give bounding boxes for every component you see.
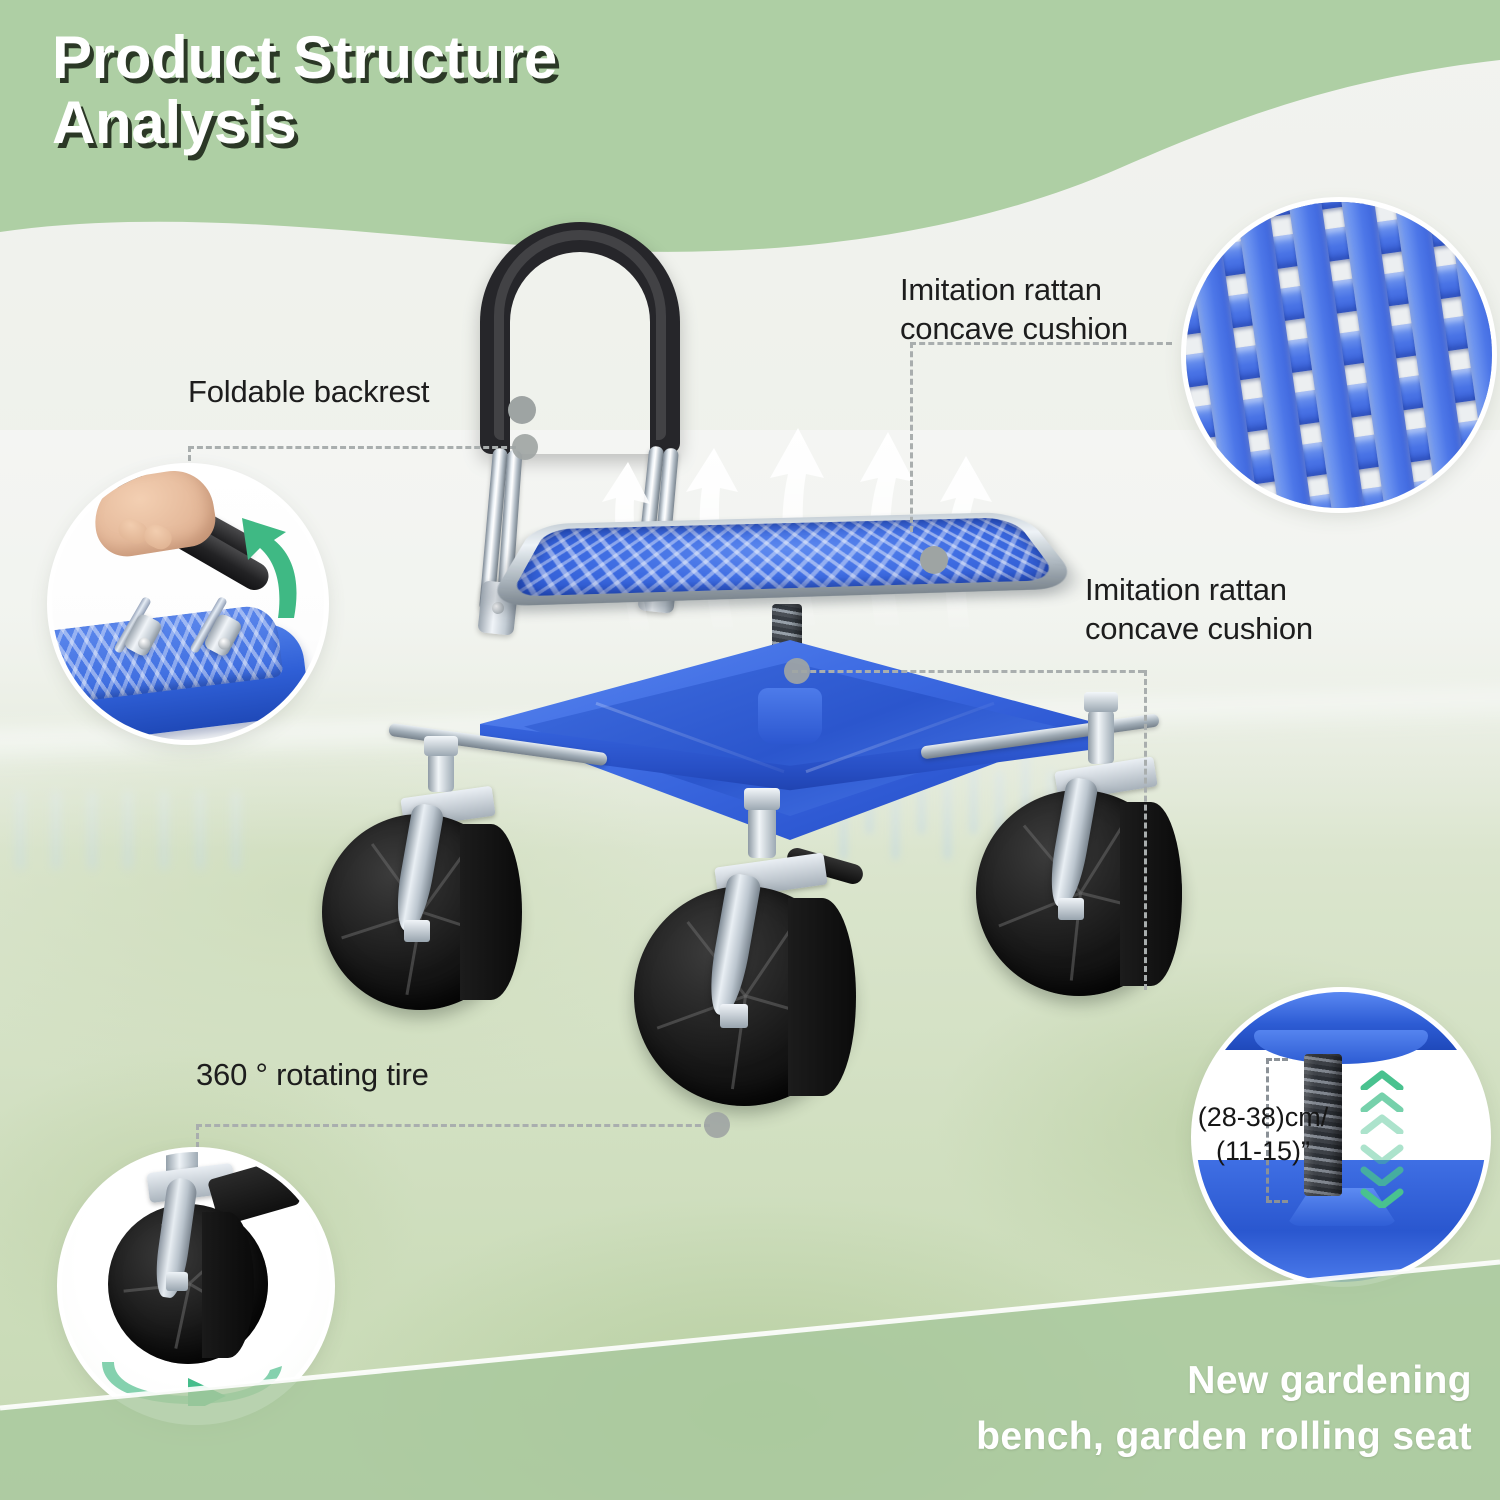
product-illustration: [280, 210, 1220, 1260]
marker-dot-backrest: [512, 434, 538, 460]
tray-center-hub: [758, 688, 822, 744]
callout-label-foldable-backrest: Foldable backrest: [188, 372, 429, 411]
callout-label-rotating-tire: 360 ° rotating tire: [196, 1055, 429, 1094]
inset-dimension-tick-top: [1266, 1058, 1288, 1061]
leader-line-cushion-right-v: [1144, 670, 1147, 990]
marker-dot-cushion-right: [784, 658, 810, 684]
inset-caster-axle: [166, 1272, 188, 1291]
marker-dot-tire: [704, 1112, 730, 1138]
chevron-down-icon: [1360, 1188, 1404, 1208]
inset-backrest-fold: [52, 468, 324, 740]
seat-cushion: [509, 517, 1060, 596]
seat-marker-dot: [920, 546, 948, 574]
chevron-up-icon: [1360, 1070, 1404, 1090]
leader-line-backrest-h: [188, 446, 516, 449]
leader-line-cushion-top-v: [910, 342, 913, 532]
callout-label-cushion-top: Imitation rattan concave cushion: [900, 270, 1128, 348]
inset-dimension-tick-bottom: [1266, 1200, 1288, 1203]
chevron-up-icon: [1360, 1092, 1404, 1112]
inset-caster-wheel: [62, 1152, 330, 1420]
inset-measurement-text: (28-38)cm/ (11-15)”: [1196, 1100, 1338, 1168]
infographic-canvas: Product Structure Analysis: [0, 0, 1500, 1500]
green-up-arrow-icon: [208, 514, 304, 622]
chevron-up-icon: [1360, 1114, 1404, 1134]
backrest-marker-dot: [508, 396, 536, 424]
rattan-weave-pattern: [1186, 202, 1492, 508]
green-rotation-arrow-icon: [92, 1328, 292, 1406]
page-title: Product Structure Analysis: [52, 26, 792, 156]
leader-line-cushion-right-h: [792, 670, 1144, 673]
chevron-down-icon: [1360, 1144, 1404, 1164]
callout-label-cushion-right: Imitation rattan concave cushion: [1085, 570, 1313, 648]
inset-height-adjust: (28-38)cm/ (11-15)”: [1196, 992, 1486, 1282]
chevron-down-icon: [1360, 1166, 1404, 1186]
inset-rattan-weave: [1186, 202, 1492, 508]
leader-line-tire-h: [196, 1124, 710, 1127]
